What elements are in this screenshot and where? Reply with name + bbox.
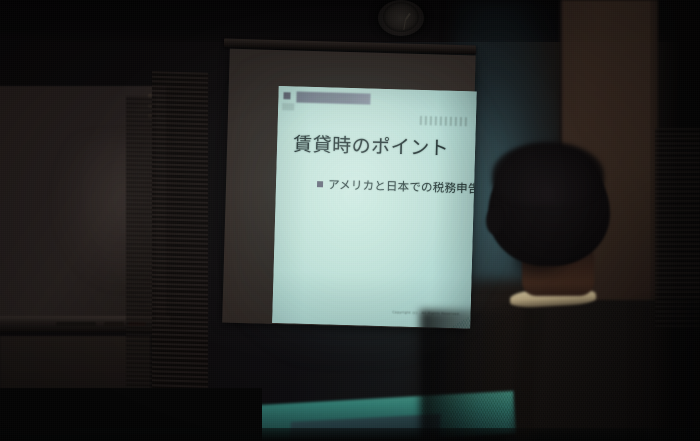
window-blinds: [152, 71, 208, 393]
square-bullet-icon: [317, 181, 323, 187]
slide-corner-marks: [420, 116, 470, 126]
person-shadow-right: [630, 300, 700, 441]
slide-title: 賃貸時のポイント: [293, 129, 450, 160]
wall-clock: [378, 0, 424, 36]
ear: [486, 208, 502, 234]
slide-header-band: [296, 92, 370, 105]
slide-header-secondary-mark: [282, 103, 294, 110]
clock-minute-hand: [403, 19, 406, 30]
viewer-silhouette: [430, 140, 700, 441]
whiteboard-marker: [56, 322, 96, 326]
hair: [492, 142, 604, 206]
slide-header-square-icon: [283, 92, 290, 99]
seminar-room-photo: 賃貸時のポイント アメリカと日本での税務申告義務 Copyright (c) .…: [0, 0, 700, 441]
clock-face: [383, 2, 419, 32]
whiteboard-marker: [104, 322, 124, 326]
person-shadow-left: [420, 310, 530, 441]
